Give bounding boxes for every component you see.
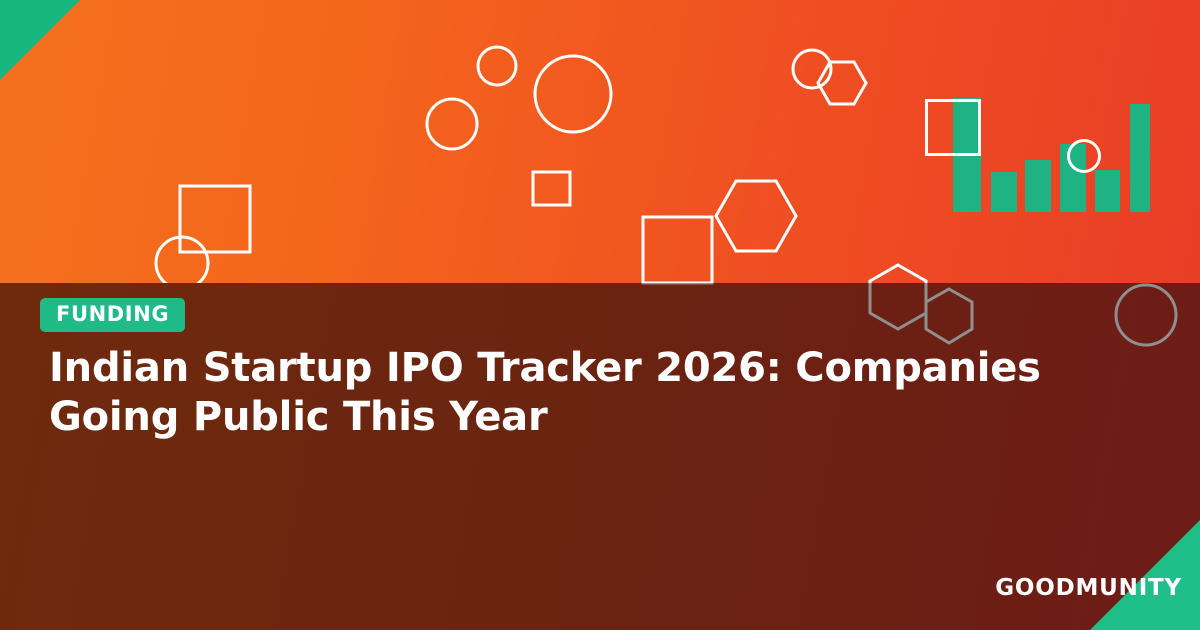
square-center-shape	[643, 217, 712, 283]
square-left-shape-shadow	[180, 186, 250, 252]
chart-highlight-ring	[1067, 139, 1101, 173]
bar-chart-decoration	[925, 92, 1155, 212]
chart-bar	[1130, 104, 1150, 212]
page-title: Indian Startup IPO Tracker 2026: Compani…	[49, 344, 1089, 442]
circle-mid-large-shape	[535, 56, 611, 132]
hexagon-center-shape	[716, 181, 796, 251]
circle-mid-small-shape	[478, 47, 516, 85]
chart-bar	[1095, 170, 1120, 212]
square-center-shape-shadow	[643, 217, 712, 283]
circle-mid-left-shape	[427, 99, 477, 149]
square-small-mid-shape	[533, 172, 570, 205]
category-badge[interactable]: FUNDING	[40, 298, 185, 332]
chart-bar	[1025, 160, 1051, 212]
chart-bar	[991, 172, 1017, 212]
square-left-shape	[180, 186, 250, 252]
circle-left-small-shape	[156, 237, 208, 289]
chart-highlight-frame	[925, 99, 981, 156]
hexagon-lower-b-shape	[926, 289, 972, 343]
social-card: FUNDING Indian Startup IPO Tracker 2026:…	[0, 0, 1200, 630]
circle-bottom-right-shape	[1116, 285, 1176, 345]
brand-wordmark: GOODMUNITY	[995, 575, 1182, 601]
